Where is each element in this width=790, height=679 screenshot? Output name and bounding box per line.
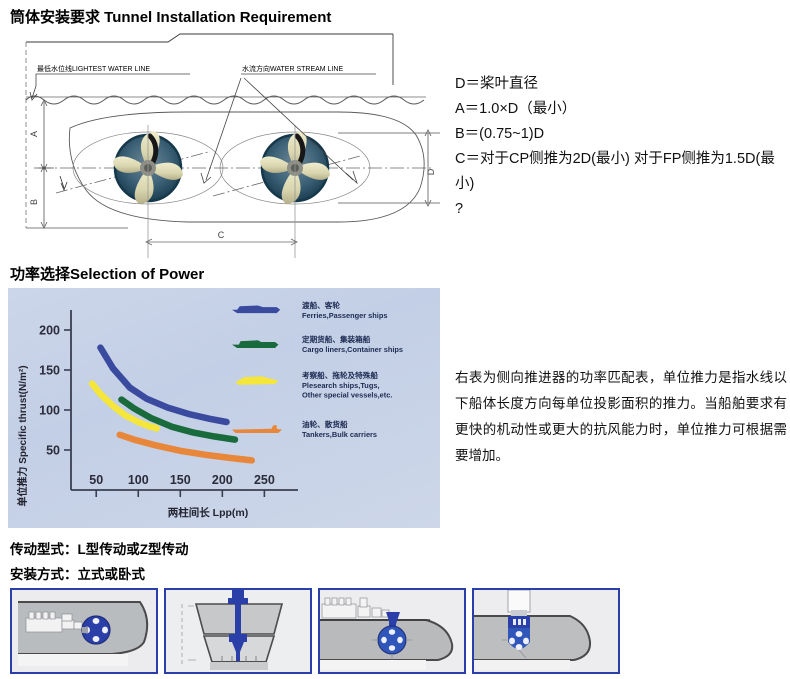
chart-xtick: 150 [170, 473, 191, 487]
thumbnail-vertical-drive-unit[interactable] [472, 588, 620, 674]
chart-xlabel: 两柱间长 Lpp(m) [168, 506, 249, 519]
chart-legend-item: 考察船、拖轮及特殊船Plesearch ships,Tugs,Other spe… [235, 370, 392, 400]
label-water-stream-line: 水流方向WATER STREAM LINE [242, 64, 343, 73]
ship-silhouette-icon [235, 376, 278, 385]
page-title-tunnel: 筒体安装要求 Tunnel Installation Requirement [10, 6, 331, 27]
dimension-definitions: D＝桨叶直径 A＝1.0×D（最小） B＝(0.75~1)D C＝对于CP侧推为… [455, 72, 785, 222]
chart-xtick: 50 [89, 473, 103, 487]
thumbnail-vertical-z-drive-section[interactable] [164, 588, 312, 674]
spec-line-a: A＝1.0×D（最小） [455, 97, 785, 122]
page-title-power: 功率选择Selection of Power [10, 263, 204, 284]
chart-legend-label-en: Cargo liners,Container ships [302, 345, 403, 354]
chart-ytick: 200 [39, 324, 60, 338]
installation-thumbnails [10, 588, 620, 674]
chart-legend-label-en: Tankers,Bulk carriers [302, 430, 377, 439]
chart-xtick: 100 [128, 473, 149, 487]
thumbnail-horizontal-engine-l-drive[interactable] [10, 588, 158, 674]
ship-silhouette-icon [232, 340, 278, 348]
page-root: 筒体安装要求 Tunnel Installation Requirement [0, 0, 790, 679]
label-lightest-water-line: 最低水位线LIGHTEST WATER LINE [37, 64, 150, 73]
spec-line-d: D＝桨叶直径 [455, 72, 785, 97]
dimension-label-b: B [29, 199, 39, 205]
chart-legend-label-en: Other special vessels,etc. [302, 391, 392, 400]
dimension-label-c: C [218, 230, 225, 240]
dimension-label-d: D [426, 168, 436, 175]
chart-ytick: 150 [39, 364, 60, 378]
ship-silhouette-icon [232, 305, 280, 313]
chart-legend-item: 渡船、客轮Ferries,Passenger ships [232, 300, 387, 320]
chart-legend-item: 油轮、散货船Tankers,Bulk carriers [232, 419, 377, 439]
tunnel-installation-drawing: D A B C [8, 30, 448, 258]
spec-line-extra: ? [455, 197, 785, 222]
chart-series-line [92, 384, 157, 429]
thumbnail-deck-engine-z-drive[interactable] [318, 588, 466, 674]
chart-explanation-paragraph: 右表为侧向推进器的功率匹配表，单位推力是指水线以下船体长度方向每单位投影面积的推… [455, 365, 787, 469]
chart-legend-label-cn: 渡船、客轮 [302, 300, 340, 310]
mounting-type-label: 安装方式：立式或卧式 [10, 563, 145, 583]
chart-legend-label-cn: 定期货船、集装箱船 [302, 334, 371, 344]
chart-legend-label-en: Plesearch ships,Tugs, [302, 381, 380, 390]
chart-ytick: 50 [46, 444, 60, 458]
spec-line-c: C＝对于CP侧推为2D(最小) 对于FP侧推为1.5D(最小) [455, 147, 785, 197]
chart-legend-label-cn: 考察船、拖轮及特殊船 [302, 370, 378, 380]
transmission-type-label: 传动型式：L型传动或Z型传动 [10, 538, 189, 558]
chart-legend-item: 定期货船、集装箱船Cargo liners,Container ships [232, 334, 403, 354]
chart-legend-label-cn: 油轮、散货船 [302, 419, 348, 429]
spec-line-b: B＝(0.75~1)D [455, 122, 785, 147]
chart-ytick: 100 [39, 404, 60, 418]
chart-legend-label-en: Ferries,Passenger ships [302, 311, 387, 320]
ship-silhouette-icon [232, 425, 282, 433]
chart-xtick: 250 [254, 473, 275, 487]
specific-thrust-chart: 50100150200 50100150200250 渡船、客轮Ferries,… [8, 288, 440, 528]
chart-ylabel: 单位推力 Specific thrust(N/m²) [16, 365, 29, 506]
dimension-label-a: A [29, 131, 39, 137]
chart-xtick: 200 [212, 473, 233, 487]
